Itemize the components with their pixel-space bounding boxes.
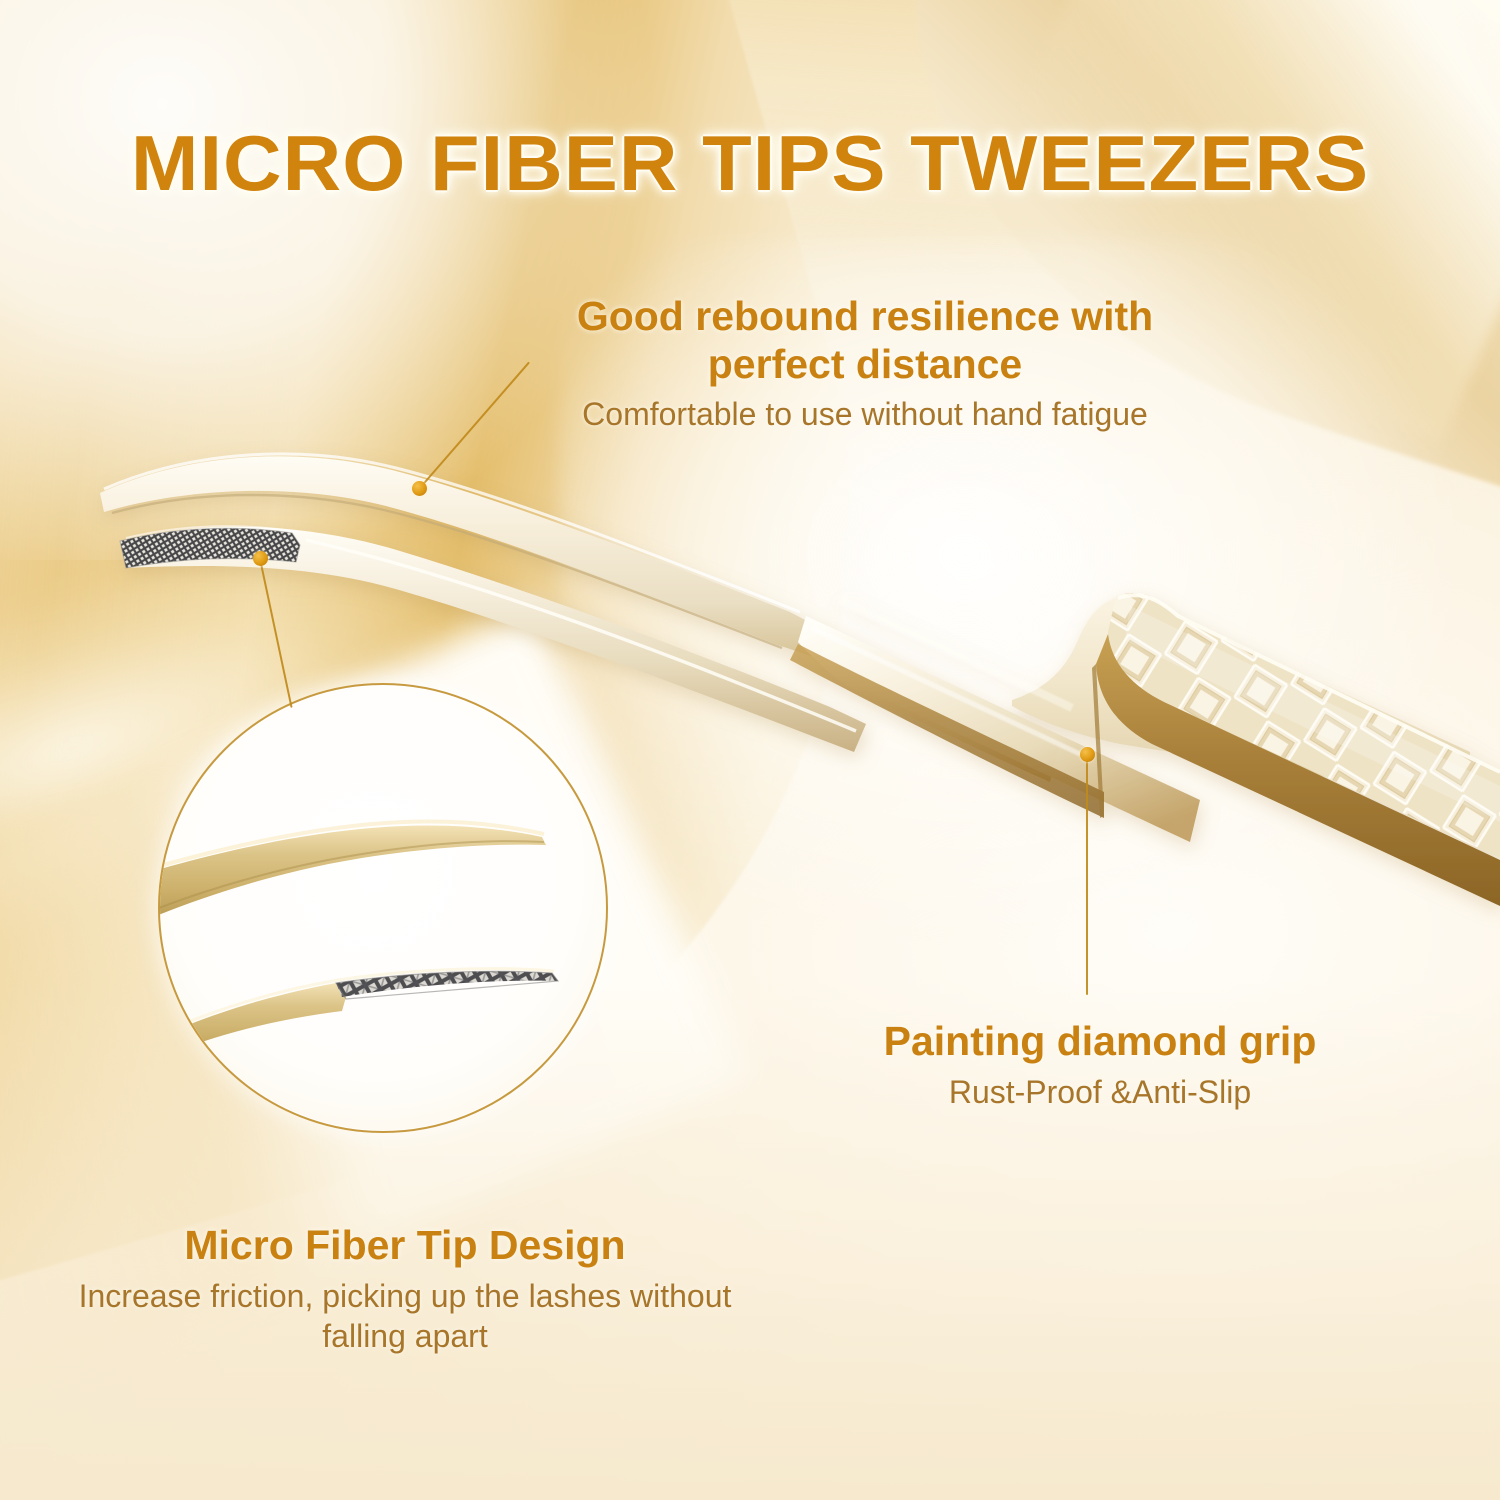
callout-micro-fiber-tip-subtitle: Increase friction, picking up the lashes… bbox=[60, 1276, 750, 1357]
leader-dot-rebound bbox=[412, 481, 427, 496]
infographic-canvas: MICRO FIBER TIPS TWEEZERS Good rebound r… bbox=[0, 0, 1500, 1500]
page-title: MICRO FIBER TIPS TWEEZERS bbox=[0, 118, 1500, 209]
callout-rebound-subtitle: Comfortable to use without hand fatigue bbox=[520, 394, 1210, 434]
magnified-upper-tip bbox=[160, 826, 546, 921]
callout-diamond-grip-subtitle: Rust-Proof &Anti-Slip bbox=[820, 1072, 1380, 1112]
callout-rebound: Good rebound resilience with perfect dis… bbox=[520, 293, 1210, 434]
callout-rebound-title: Good rebound resilience with perfect dis… bbox=[520, 293, 1210, 388]
leader-dot-diamond-grip bbox=[1080, 747, 1095, 762]
callout-diamond-grip-title: Painting diamond grip bbox=[820, 1018, 1380, 1066]
leader-dot-micro-fiber-tip bbox=[253, 551, 268, 566]
magnified-tips bbox=[160, 685, 606, 1131]
magnifier-circle-icon bbox=[158, 683, 608, 1133]
callout-micro-fiber-tip-title: Micro Fiber Tip Design bbox=[60, 1222, 750, 1270]
callout-diamond-grip: Painting diamond grip Rust-Proof &Anti-S… bbox=[820, 1018, 1380, 1112]
leader-line-diamond-grip bbox=[1086, 755, 1088, 995]
callout-micro-fiber-tip: Micro Fiber Tip Design Increase friction… bbox=[60, 1222, 750, 1356]
